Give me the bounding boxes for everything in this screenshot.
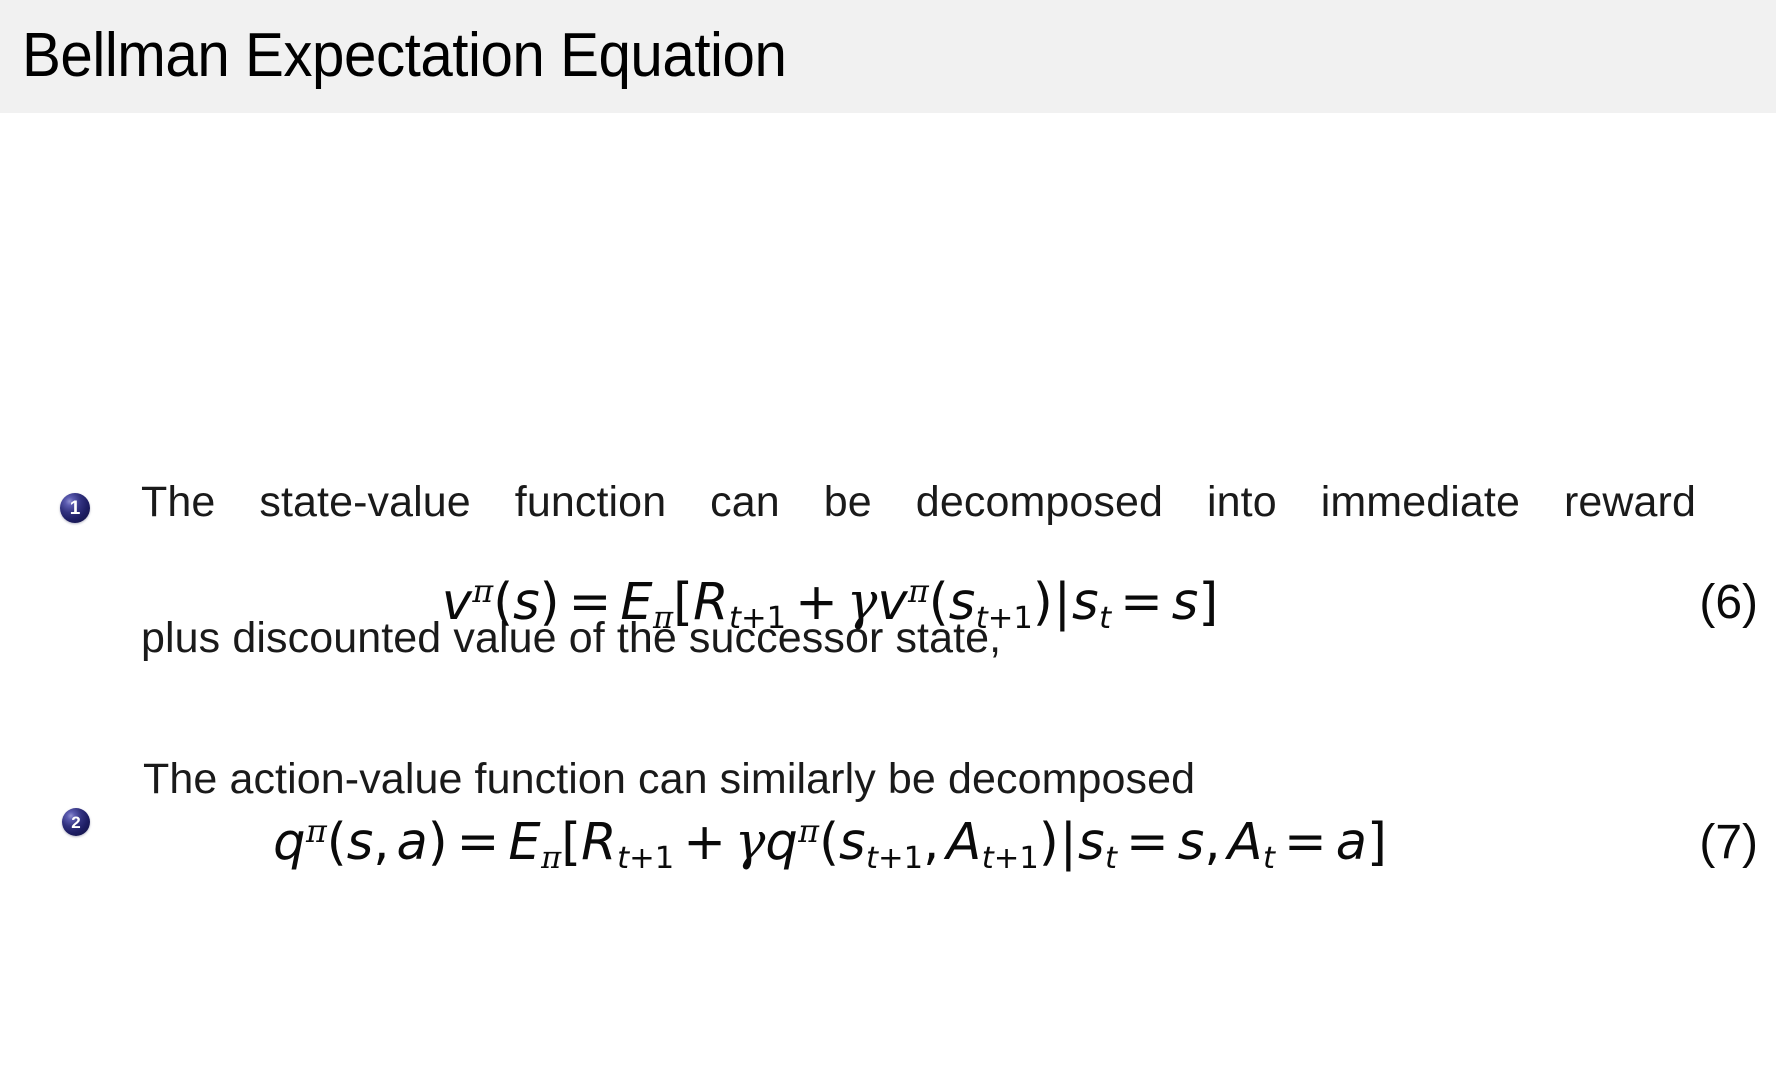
enumerate-ball-icon-1: 1 [60,493,90,523]
page-title: Bellman Expectation Equation [22,8,786,104]
slide-header-bar: Bellman Expectation Equation [0,0,1776,113]
slide-content-area: 1 The state-value function can be decomp… [0,113,1776,1080]
equation-number-6: (6) [1638,563,1758,643]
equation-number-7: (7) [1638,803,1758,883]
equation-7: qπ(s,a)=Eπ[Rt+1+γqπ(st+1,At+1)|st=s,At=a… [0,803,1660,883]
equation-6: vπ(s)=Eπ[Rt+1+γvπ(st+1)|st=s] [0,563,1660,643]
